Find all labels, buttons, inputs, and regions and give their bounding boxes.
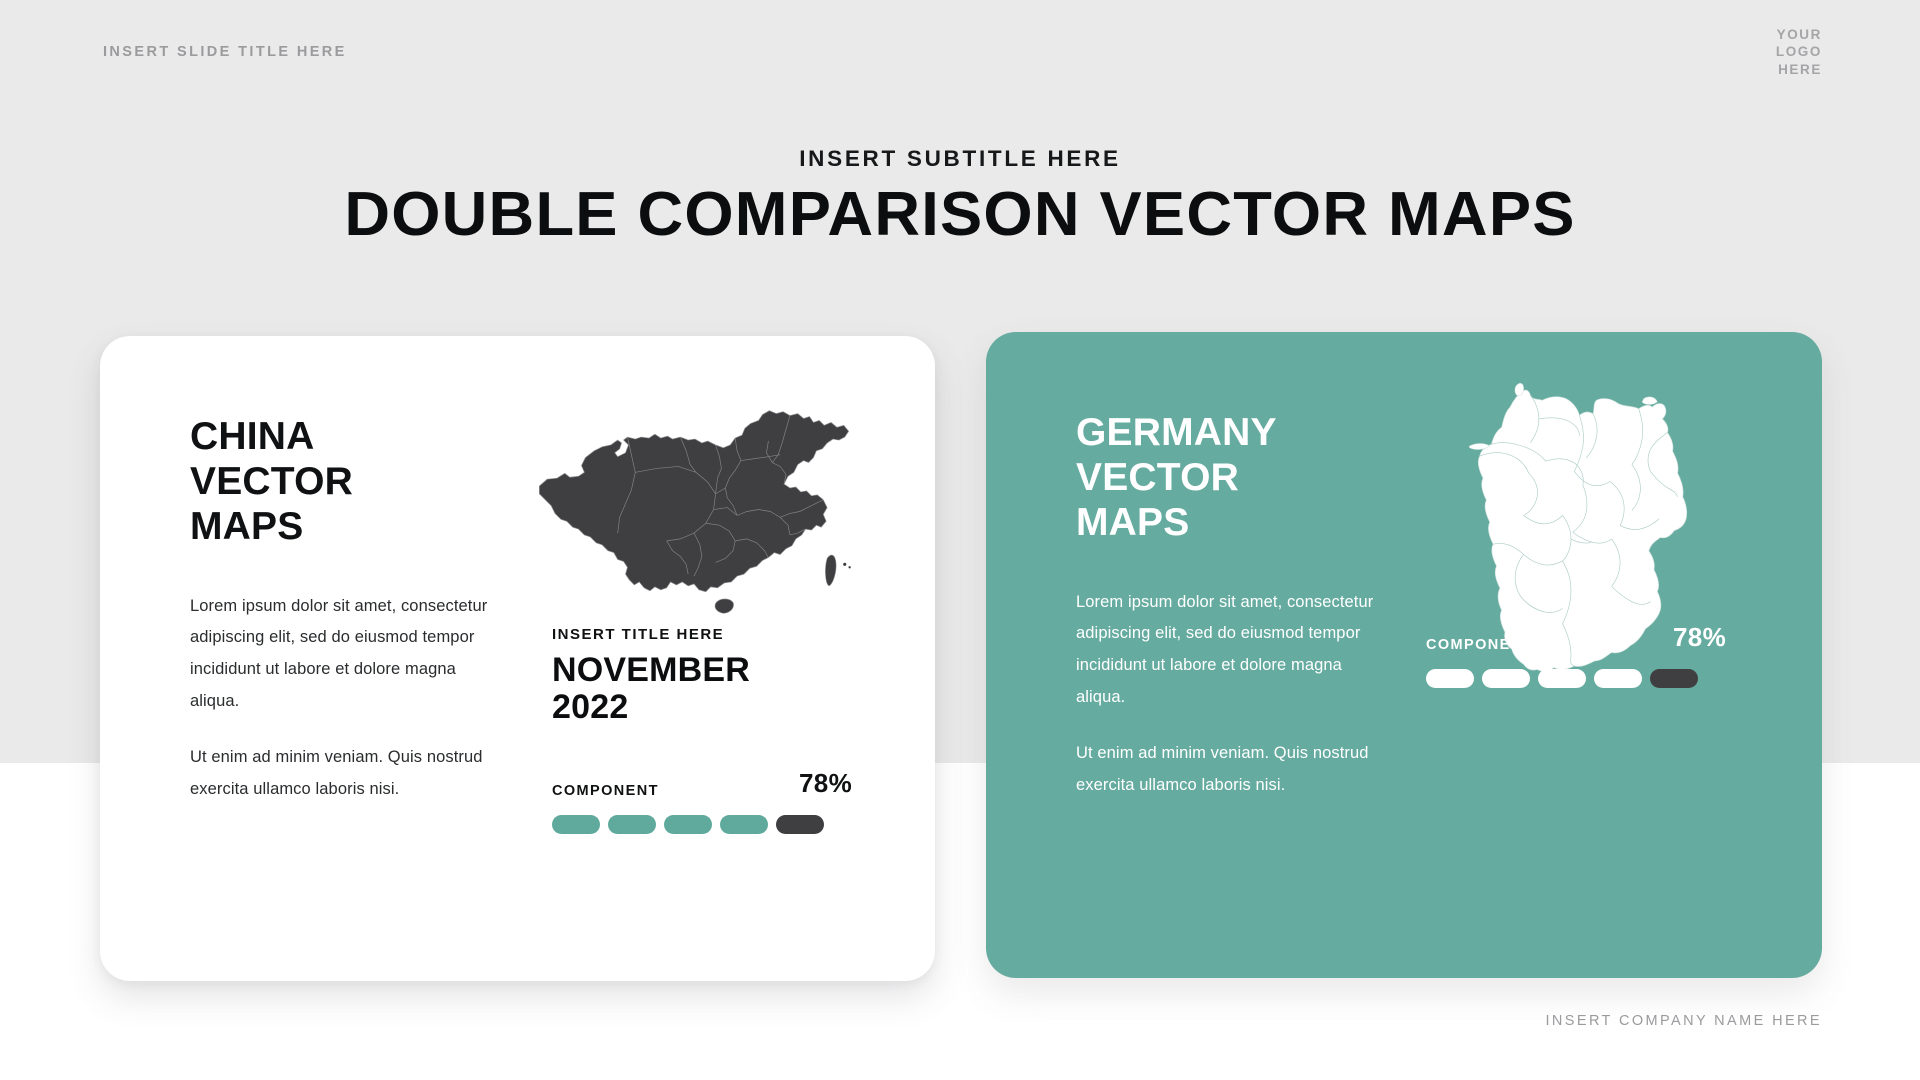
logo-line-2: LOGO: [1776, 43, 1822, 60]
china-map: [530, 396, 860, 626]
china-insert-title: INSERT TITLE HERE: [552, 626, 852, 643]
china-component-value: 78%: [799, 768, 852, 799]
china-heading-line-1: CHINA: [190, 414, 490, 459]
progress-pill-filled: [552, 815, 600, 834]
progress-pill-empty: [776, 815, 824, 834]
germany-text-column: GERMANY VECTOR MAPS Lorem ipsum dolor si…: [1076, 410, 1376, 802]
china-heading-line-2: VECTOR: [190, 459, 490, 504]
china-paragraph-2: Ut enim ad minim veniam. Quis nostrud ex…: [190, 742, 490, 805]
progress-pill-filled: [1594, 669, 1642, 688]
germany-heading-line-1: GERMANY: [1076, 410, 1376, 455]
germany-paragraph-2: Ut enim ad minim veniam. Quis nostrud ex…: [1076, 738, 1376, 801]
germany-heading-line-2: VECTOR: [1076, 455, 1376, 500]
card-china: CHINA VECTOR MAPS Lorem ipsum dolor sit …: [100, 336, 935, 981]
china-date-line-1: NOVEMBER: [552, 652, 852, 689]
germany-heading-line-3: MAPS: [1076, 500, 1376, 545]
china-date: NOVEMBER 2022: [552, 652, 852, 725]
progress-pill-filled: [664, 815, 712, 834]
progress-pill-filled: [720, 815, 768, 834]
slide-title: INSERT SLIDE TITLE HERE: [103, 44, 347, 60]
page-title: DOUBLE COMPARISON VECTOR MAPS: [0, 182, 1920, 249]
germany-stats: COMPONENT 78%: [1426, 622, 1726, 688]
germany-component-row: COMPONENT 78%: [1426, 622, 1726, 653]
footer-company-name: INSERT COMPANY NAME HERE: [1546, 1013, 1823, 1029]
china-component-label: COMPONENT: [552, 783, 659, 799]
china-heading: CHINA VECTOR MAPS: [190, 414, 490, 550]
logo-line-1: YOUR: [1776, 26, 1822, 43]
china-date-line-2: 2022: [552, 689, 852, 726]
germany-component-label: COMPONENT: [1426, 637, 1533, 653]
logo-placeholder: YOUR LOGO HERE: [1776, 26, 1822, 78]
china-component-row: COMPONENT 78%: [552, 768, 852, 799]
china-text-column: CHINA VECTOR MAPS Lorem ipsum dolor sit …: [190, 414, 490, 806]
germany-paragraph-1: Lorem ipsum dolor sit amet, consectetur …: [1076, 587, 1376, 714]
slide-canvas: INSERT SLIDE TITLE HERE YOUR LOGO HERE I…: [0, 0, 1920, 1080]
progress-pill-filled: [608, 815, 656, 834]
progress-pill-filled: [1482, 669, 1530, 688]
germany-progress-pills: [1426, 669, 1726, 688]
germany-component-value: 78%: [1673, 622, 1726, 653]
slide-subtitle: INSERT SUBTITLE HERE: [0, 146, 1920, 172]
china-stats: INSERT TITLE HERE NOVEMBER 2022 COMPONEN…: [552, 626, 852, 834]
germany-heading: GERMANY VECTOR MAPS: [1076, 410, 1376, 546]
progress-pill-filled: [1538, 669, 1586, 688]
card-germany: GERMANY VECTOR MAPS Lorem ipsum dolor si…: [986, 332, 1822, 978]
progress-pill-filled: [1426, 669, 1474, 688]
china-progress-pills: [552, 815, 852, 834]
china-heading-line-3: MAPS: [190, 504, 490, 549]
logo-line-3: HERE: [1776, 61, 1822, 78]
china-paragraph-1: Lorem ipsum dolor sit amet, consectetur …: [190, 591, 490, 718]
progress-pill-empty: [1650, 669, 1698, 688]
